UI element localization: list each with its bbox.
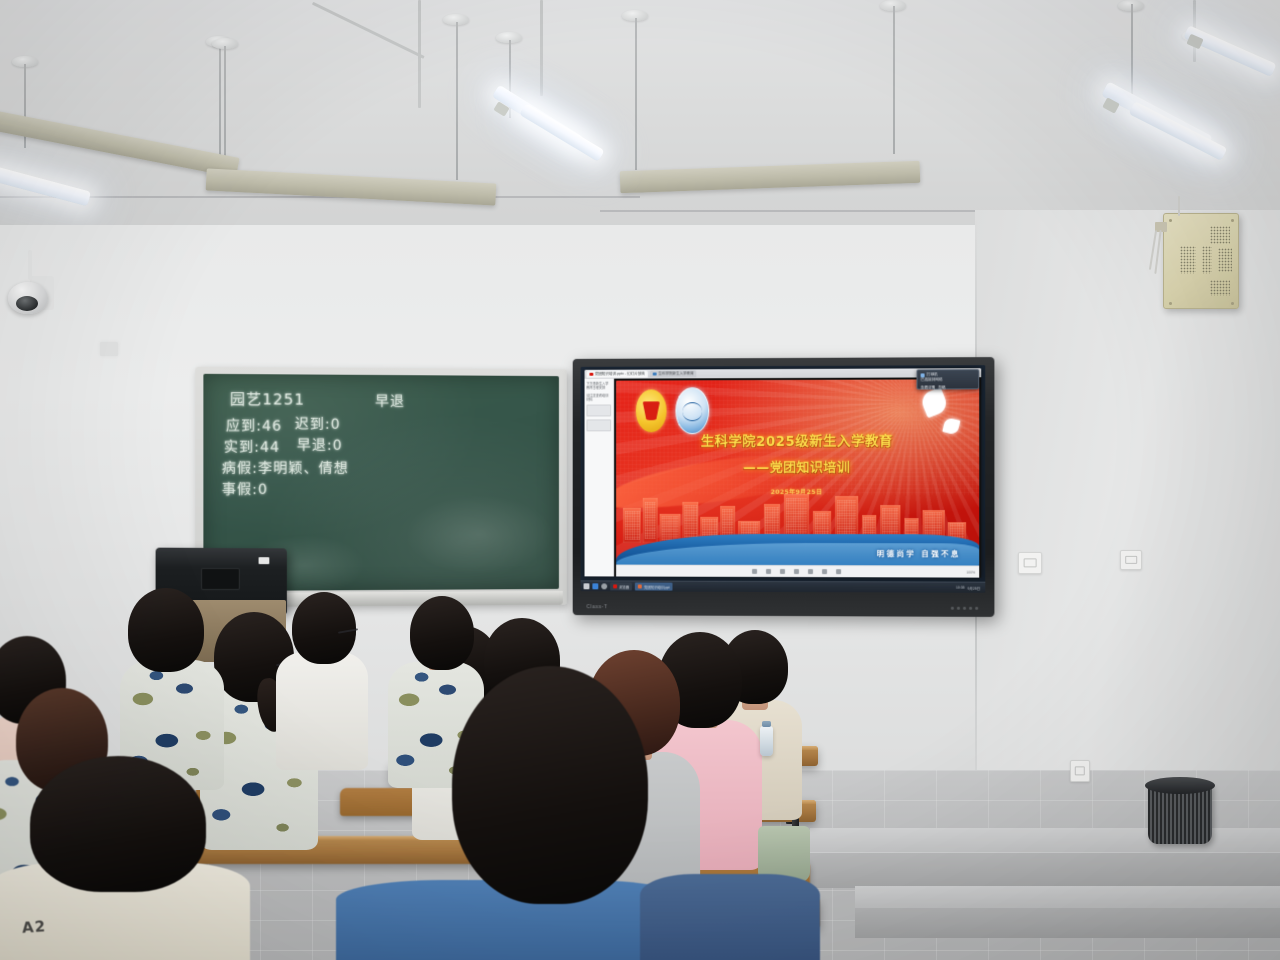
tab-favicon-icon [589,373,592,376]
water-bottle [760,726,773,756]
light-switch-panel[interactable] [1070,760,1090,782]
panel-indicator-leds [951,607,978,610]
system-notification-toast[interactable]: 打印机 已连接到网络 查看详情 忽略 [917,369,980,389]
student-torso [640,874,820,960]
monitor-vesa-mount [201,568,240,591]
wall-speaker-box [1163,213,1239,309]
ppt-tool-icon[interactable] [822,569,827,574]
powerpoint-icon [638,585,642,589]
wall-patch [100,342,118,356]
toast-action-dismiss[interactable]: 忽略 [938,385,945,390]
ppt-status-bar[interactable]: 100% [616,565,979,578]
toast-body: 已连接到网络 [921,378,943,383]
interactive-flat-panel[interactable]: 党团知识培训.pptx - 幻灯片放映 生科学院新生入学教育 下方是新生入学教育… [573,357,995,617]
platform-step-face [855,908,1280,938]
tray-date: 9月25日 [968,585,981,590]
slide-thumbnail[interactable] [586,420,611,432]
speaker-screw [1169,219,1172,222]
speaker-grille [1210,226,1230,244]
monitor-sticker [258,557,269,564]
taskbar-task-label: 浏览器 [619,584,629,589]
browser-content-area: 下方是新生入学教育日程安排 请注意查看培训材料 [585,377,982,577]
chalk-late: 迟到:0 [295,414,341,434]
pendant-rod [456,22,458,180]
system-tray[interactable]: 10:35 9月25日 [956,585,982,590]
ppt-zoom-level[interactable]: 100% [966,570,975,574]
ppt-tool-icon[interactable] [794,569,799,574]
toast-actions[interactable]: 查看详情 忽略 [921,385,976,391]
slide-thumbnail[interactable] [586,405,611,417]
student-torso [276,652,368,770]
wall-outlet[interactable] [1120,550,1142,570]
chalk-corner-note: 早退 [375,391,405,411]
slide-stage: 生科学院2025级新生入学教育 ——党团知识培训 2025年9月25日 [614,377,981,577]
classroom-photo-scene: 园艺1251 应到:46 迟到:0 实到:44 早退:0 病假:李明颖、倩想 事… [0,0,1280,960]
tab-favicon-icon [653,372,656,375]
communist-youth-league-emblem-icon [636,390,667,432]
speaker-grille [1202,246,1212,274]
chalk-expected: 应到:46 [226,415,282,435]
speaker-grille [1218,248,1232,272]
speaker-screw [1169,302,1172,305]
chalk-personal-leave: 事假:0 [222,479,268,499]
chalk-actual: 实到:44 [224,437,280,457]
student-head [128,588,204,672]
speaker-grille [1210,280,1230,296]
windows-taskbar[interactable]: 浏览器 党团知识培训.ppt 10:35 9月25日 [581,580,986,592]
browser-tab-inactive[interactable]: 生科学院新生入学教育 [650,370,697,377]
pendant-rod [635,18,637,170]
pendant-rod [219,44,221,166]
waste-basket-rim [1145,777,1215,794]
student-head [30,756,206,892]
ppt-tool-icon[interactable] [808,569,813,574]
camera-lens [16,296,38,311]
taskbar-task-label: 党团知识培训.ppt [644,584,670,589]
chalk-sick-leave: 病假:李明颖、倩想 [222,458,349,478]
chalk-smudge [405,495,553,575]
speaker-grille [1180,246,1196,274]
browser-tab-label: 生科学院新生入学教育 [658,371,694,376]
toast-body-row: 已连接到网络 [921,378,976,384]
speaker-screw [1231,219,1234,222]
slide-subtitle: ——党团知识培训 [616,457,979,476]
browser-icon [613,584,617,588]
slide-title: 生科学院2025级新生入学教育 [616,430,979,451]
slide-motto: 明德尚学 自强不息 [877,548,961,559]
file-explorer-icon[interactable] [592,583,598,589]
slide-thumbnail-panel[interactable]: 下方是新生入学教育日程安排 请注意查看培训材料 [585,379,615,577]
browser-tab-active[interactable]: 党团知识培训.pptx - 幻灯片放映 [586,371,647,378]
hoodie-graphic-text: A2 [21,917,46,937]
panel-note-line-2: 请注意查看培训材料 [586,393,611,402]
speaker-cable [1178,196,1180,216]
windows-desktop: 党团知识培训.pptx - 幻灯片放映 生科学院新生入学教育 下方是新生入学教育… [581,365,986,593]
platform-step-top [855,886,1280,910]
panel-screen[interactable]: 党团知识培训.pptx - 幻灯片放映 生科学院新生入学教育 下方是新生入学教育… [581,365,986,593]
tray-time: 10:35 [956,586,965,590]
taskbar-task-powerpoint[interactable]: 党团知识培训.ppt [635,583,673,591]
teaching-platform-face [810,852,1280,888]
browser-tab-label: 党团知识培训.pptx - 幻灯片放映 [595,372,645,377]
chalk-class-code: 园艺1251 [230,388,305,410]
ppt-tool-icon[interactable] [780,569,785,574]
ceiling-conduit [540,0,543,96]
search-icon[interactable] [601,583,607,589]
toast-action-details[interactable]: 查看详情 [921,385,936,390]
presentation-title-slide: 生科学院2025级新生入学教育 ——党团知识培训 2025年9月25日 [616,379,979,565]
student-head [452,666,648,904]
ppt-tool-icon[interactable] [836,569,841,574]
waste-basket [1148,782,1212,844]
taskbar-task-browser[interactable]: 浏览器 [610,582,632,590]
bottle-cap [762,721,771,727]
panel-brand-label: Class-T [586,604,607,610]
air-vent-grille [1018,552,1042,574]
speaker-screw [1231,302,1234,305]
browser-window[interactable]: 党团知识培训.pptx - 幻灯片放映 生科学院新生入学教育 下方是新生入学教育… [585,368,982,577]
panel-note-line-1: 下方是新生入学教育日程安排 [586,382,611,391]
pendant-rod [893,6,895,154]
student-head [292,592,356,664]
university-emblem-icon [675,388,709,434]
ppt-tool-icon[interactable] [752,569,757,574]
chalk-early-leave: 早退:0 [297,435,343,455]
student-head [410,596,474,670]
start-menu-icon[interactable] [584,583,590,589]
ppt-tool-icon[interactable] [766,569,771,574]
